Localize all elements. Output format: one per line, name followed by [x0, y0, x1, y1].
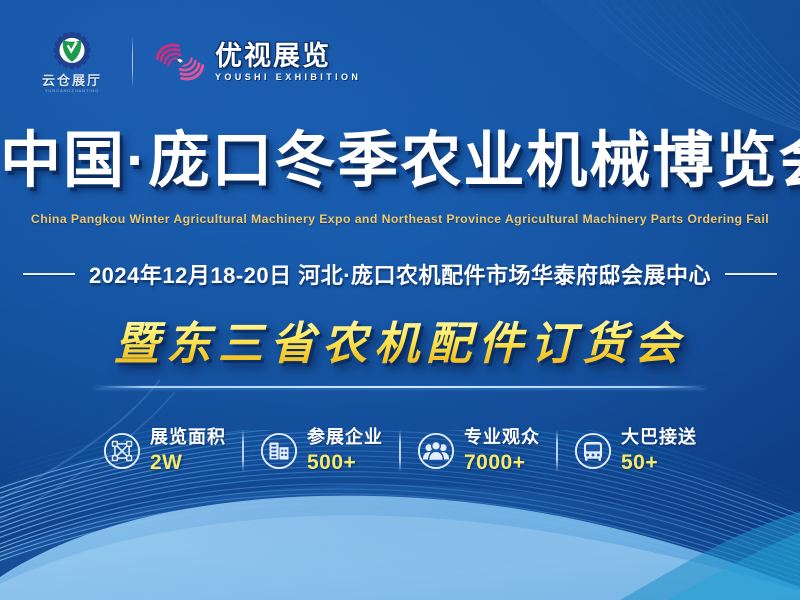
stat-value: 50+ [621, 452, 697, 473]
stat-label: 大巴接送 [621, 428, 697, 446]
stat-value: 7000+ [464, 452, 540, 473]
people-icon [417, 432, 455, 470]
stat-label: 专业观众 [464, 428, 540, 446]
logo-youshi-exhibition[interactable]: 优视展览 YOUSHI EXHIBITION [151, 36, 361, 88]
building-icon [260, 432, 298, 470]
rule-left [23, 273, 75, 275]
date-location-text: 2024年12月18-20日 河北·庞口农机配件市场华泰府邸会展中心 [89, 258, 711, 290]
stat-label: 参展企业 [307, 428, 383, 446]
gold-subtitle: 暨东三省农机配件订货会 [0, 318, 800, 370]
leaf-gear-logo-icon [46, 31, 98, 73]
logo-yuncangzhanting[interactable]: 云仓展厅 YUNCANGZHANTING [34, 31, 110, 93]
stat-item: 展览面积 2W [87, 428, 242, 473]
swirl-logo-icon [151, 36, 209, 88]
stat-item: 专业观众 7000+ [401, 428, 556, 473]
stat-item: 大巴接送 50+ [558, 428, 713, 473]
horizontal-divider [95, 386, 705, 388]
logo-divider [132, 36, 133, 88]
stat-value: 2W [150, 452, 226, 473]
rule-right [725, 273, 777, 275]
logo-youshi-cn: 优视展览 [215, 42, 361, 70]
stat-item: 参展企业 500+ [244, 428, 399, 473]
page-subtitle-english: China Pangkou Winter Agricultural Machin… [0, 212, 800, 226]
logo-yuncang-cn: 云仓展厅 [42, 74, 102, 87]
date-location-bar: 2024年12月18-20日 河北·庞口农机配件市场华泰府邸会展中心 [0, 258, 800, 290]
page-title: 中国·庞口冬季农业机械博览会 [0, 126, 800, 194]
expo-poster: 云仓展厅 YUNCANGZHANTING [0, 0, 800, 600]
stat-value: 500+ [307, 452, 383, 473]
stats-row: 展览面积 2W [0, 428, 800, 473]
area-measure-icon [103, 432, 141, 470]
logo-row: 云仓展厅 YUNCANGZHANTING [34, 28, 361, 96]
logo-youshi-en: YOUSHI EXHIBITION [215, 73, 361, 82]
logo-yuncang-pinyin: YUNCANGZHANTING [45, 89, 99, 93]
bus-icon [574, 432, 612, 470]
stat-label: 展览面积 [150, 428, 226, 446]
